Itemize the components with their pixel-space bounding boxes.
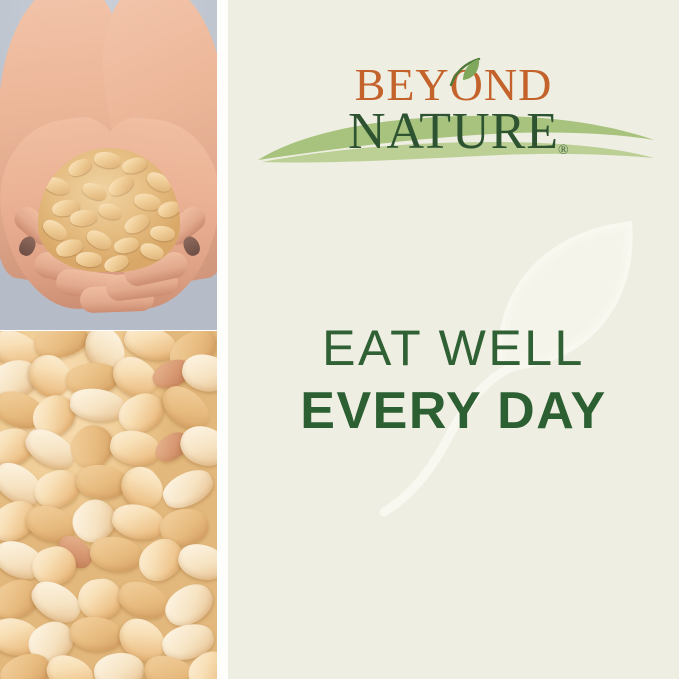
content-panel: BEYOND NATURE ® EAT WELL EVERY DAY <box>228 0 679 679</box>
photo-panel-gutter <box>217 0 228 679</box>
photo-hands-holding-peanuts <box>0 0 217 330</box>
leaf-in-letter-o-icon <box>439 55 485 103</box>
logo-nature-text: NATURE <box>348 103 559 160</box>
photo-peanuts-closeup <box>0 331 217 679</box>
photo-column <box>0 0 217 679</box>
headline-line-2: EVERY DAY <box>228 383 679 439</box>
logo-word-nature: NATURE <box>228 106 679 158</box>
brand-logo: BEYOND NATURE ® <box>228 30 679 175</box>
product-banner: BEYOND NATURE ® EAT WELL EVERY DAY <box>0 0 679 679</box>
registered-trademark-mark: ® <box>558 143 569 159</box>
headline-block: EAT WELL EVERY DAY <box>228 322 679 439</box>
headline-line-1: EAT WELL <box>228 322 679 375</box>
